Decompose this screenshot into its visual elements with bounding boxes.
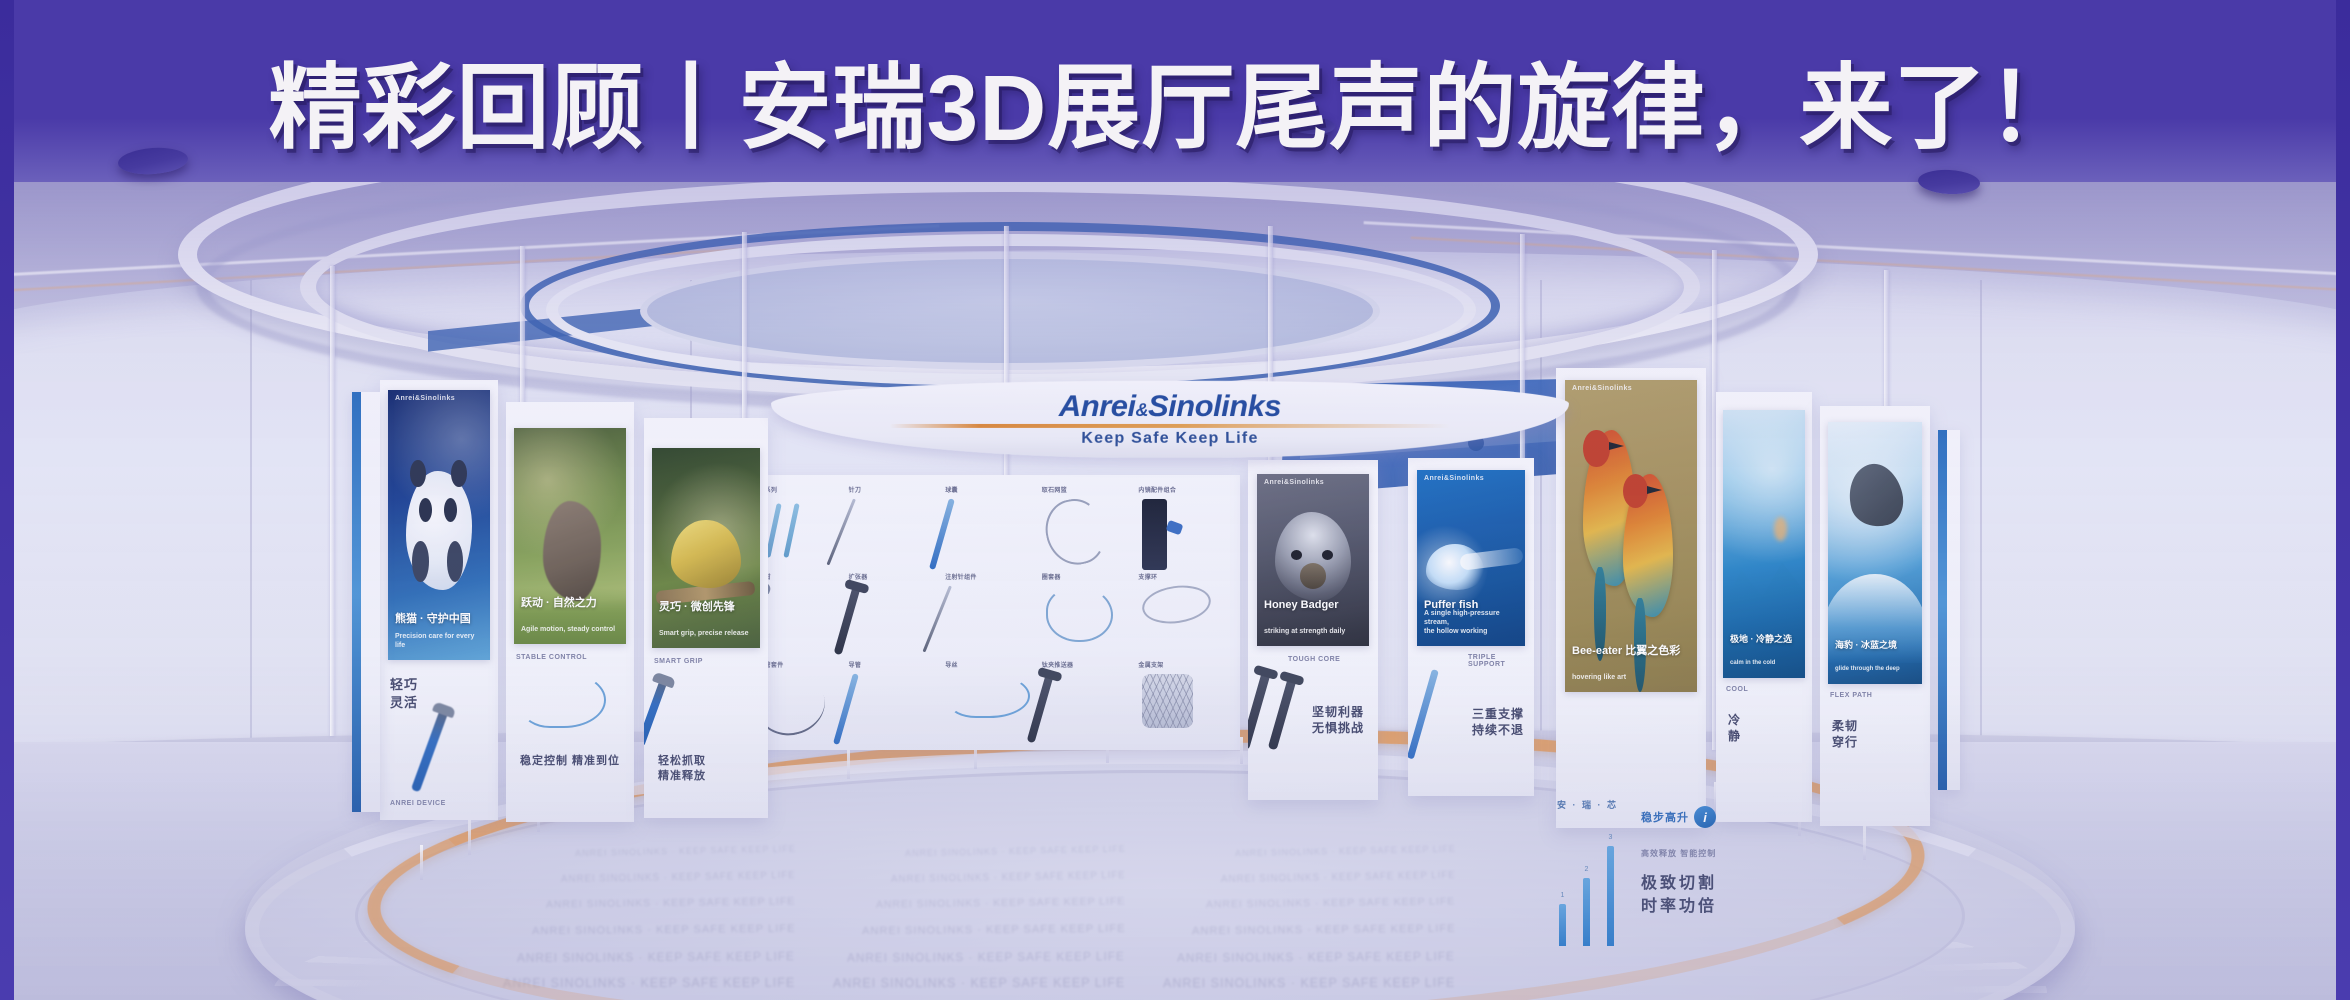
poster-title: 灵巧 · 微创先锋 bbox=[659, 601, 753, 614]
product-cell: 导丝 bbox=[943, 660, 1037, 744]
product-cell: 圈套器 bbox=[1040, 572, 1134, 656]
poster-title: 跃动 · 自然之力 bbox=[521, 597, 619, 610]
poster-art-frog: 灵巧 · 微创先锋 Smart grip, precise release bbox=[652, 448, 760, 648]
poster-title: Bee-eater 比翼之色彩 bbox=[1572, 645, 1690, 658]
poster-subtitle: glide through the deep bbox=[1835, 666, 1915, 674]
product-cell: 注射针组件 bbox=[943, 572, 1037, 656]
product-grid: 导丝系列针刀球囊取石网篮内镜配件组合活检钳扩张器注射针组件圈套器支撑环引流管套件… bbox=[750, 485, 1230, 744]
poster-title: Honey Badger bbox=[1264, 599, 1362, 612]
product-cell: 导管 bbox=[847, 660, 941, 744]
product-cell: 针刀 bbox=[847, 485, 941, 569]
chart-bar-label: 3 bbox=[1609, 834, 1613, 841]
panda-ear-right bbox=[451, 460, 466, 487]
poster-caption-small: TRIPLE SUPPORT bbox=[1468, 654, 1534, 668]
chart-bar: 3 bbox=[1607, 846, 1614, 946]
poster-board-panda: Anrei&Sinolinks 熊猫 · 守护中国 Precision care… bbox=[380, 380, 498, 820]
poster-board-honey-badger: Anrei&Sinolinks Honey Badger striking at… bbox=[1248, 460, 1378, 800]
product-label: 球囊 bbox=[945, 485, 958, 494]
chart-bar-label: 1 bbox=[1561, 892, 1565, 899]
product-device-illustration bbox=[949, 674, 1030, 718]
product-cell: 球囊 bbox=[943, 485, 1037, 569]
wall-seam bbox=[250, 280, 252, 750]
poster-caption-cn: 冷 静 bbox=[1728, 712, 1741, 744]
poster-board-frog: 灵巧 · 微创先锋 Smart grip, precise release SM… bbox=[644, 418, 768, 818]
poster-brandtag: Anrei&Sinolinks bbox=[1572, 385, 1632, 392]
poster-caption-small: TOUGH CORE bbox=[1288, 656, 1340, 663]
kiosk-stripe bbox=[1938, 430, 1947, 790]
poster-subtitle: striking at strength daily bbox=[1264, 627, 1362, 636]
poster-caption-cn: 坚韧利器 无惧挑战 bbox=[1312, 704, 1364, 736]
poster-caption-cn: 轻巧 灵活 bbox=[390, 676, 418, 711]
poster-brandtag: Anrei&Sinolinks bbox=[1264, 479, 1324, 486]
product-cell: 取石网篮 bbox=[1040, 485, 1134, 569]
poster-board-glacier: 海豹 · 冰蓝之境 glide through the deep FLEX PA… bbox=[1820, 406, 1930, 826]
panda-ear-left bbox=[410, 460, 425, 487]
product-label: 针刀 bbox=[849, 485, 862, 494]
left-edge-strip bbox=[0, 0, 14, 1000]
device-illustration bbox=[411, 708, 449, 792]
poster-subtitle: Smart grip, precise release bbox=[659, 629, 753, 638]
kiosk-stripe bbox=[352, 392, 361, 812]
poster-brandtag: Anrei&Sinolinks bbox=[1424, 475, 1484, 482]
poster-caption-cn: 稳定控制 精准到位 bbox=[520, 754, 620, 769]
statistics-chart-panel: 稳步高升 i 安 · 瑞 · 芯 123 高效释放 智能控制 极致切割时率功倍 bbox=[1555, 812, 1755, 962]
poster-art-water: Anrei&Sinolinks Puffer fish A single hig… bbox=[1417, 470, 1525, 646]
chart-bar: 2 bbox=[1583, 878, 1590, 946]
brand-swoosh-underline bbox=[890, 424, 1451, 428]
badger-eye-right bbox=[1322, 550, 1333, 560]
bird-upper-head bbox=[1583, 430, 1609, 467]
product-device-illustration bbox=[1040, 494, 1110, 570]
poster-caption-small: FLEX PATH bbox=[1830, 692, 1872, 699]
product-cell: 钛夹推送器 bbox=[1040, 660, 1134, 744]
product-cell: 内镜配件组合 bbox=[1136, 485, 1230, 569]
product-label: 钛夹推送器 bbox=[1042, 660, 1074, 669]
frog-body bbox=[671, 520, 740, 588]
product-cell: 支撑环 bbox=[1136, 572, 1230, 656]
poster-caption-cn: 三重支撑 持续不退 bbox=[1472, 706, 1524, 738]
poster-art-glacier: 海豹 · 冰蓝之境 glide through the deep bbox=[1828, 422, 1922, 684]
right-edge-strip bbox=[2336, 0, 2350, 1000]
bird-lower-head bbox=[1623, 474, 1648, 508]
chart-subtitle: 高效释放 智能控制 bbox=[1641, 848, 1716, 859]
product-device-illustration bbox=[1142, 499, 1166, 570]
bird-lower-beak bbox=[1647, 486, 1662, 494]
poster-art-bee-eater: Anrei&Sinolinks Bee-eater 比翼之色彩 hovering… bbox=[1565, 380, 1697, 692]
poster-title: 极地 · 冷静之选 bbox=[1730, 634, 1798, 644]
product-label: 导管 bbox=[849, 660, 862, 669]
poster-title: 海豹 · 冰蓝之境 bbox=[1835, 640, 1915, 650]
product-device-illustration bbox=[756, 499, 840, 566]
panda-eye-left bbox=[419, 498, 432, 522]
product-display-panel: 导丝系列针刀球囊取石网篮内镜配件组合活检钳扩张器注射针组件圈套器支撑环引流管套件… bbox=[740, 475, 1240, 750]
product-label: 导丝 bbox=[945, 660, 958, 669]
chart-header: 安 · 瑞 · 芯 bbox=[1557, 798, 1618, 811]
support-post bbox=[330, 266, 335, 736]
product-label: 金属支架 bbox=[1138, 660, 1163, 669]
chart-title: 极致切割时率功倍 bbox=[1641, 872, 1717, 918]
poster-subtitle: A single high-pressure stream, the hollo… bbox=[1424, 609, 1518, 636]
badger-eye-left bbox=[1291, 550, 1302, 560]
showroom-banner-image: Anrei&Sinolinks Keep Safe Keep Life 导丝系列… bbox=[0, 0, 2350, 1000]
poster-board-kangaroo: 跃动 · 自然之力 Agile motion, steady control S… bbox=[506, 402, 634, 822]
brand-wordmark: Anrei&Sinolinks bbox=[1059, 391, 1282, 421]
product-label: 注射针组件 bbox=[945, 572, 977, 581]
poster-subtitle: hovering like art bbox=[1572, 673, 1690, 682]
poster-caption-small: SMART GRIP bbox=[654, 658, 703, 665]
rail-baluster bbox=[468, 820, 471, 855]
poster-subtitle: Precision care for every life bbox=[395, 632, 483, 650]
info-badge: 稳步高升 i bbox=[1641, 806, 1716, 828]
chart-title-line: 时率功倍 bbox=[1641, 895, 1717, 918]
poster-title: 熊猫 · 守护中国 bbox=[395, 613, 483, 626]
rail-baluster bbox=[420, 845, 423, 881]
poster-caption-small: STABLE CONTROL bbox=[516, 654, 587, 661]
poster-board-water: Anrei&Sinolinks Puffer fish A single hig… bbox=[1408, 458, 1534, 796]
chart-bar-label: 2 bbox=[1585, 866, 1589, 873]
poster-board-bee-eater: Anrei&Sinolinks Bee-eater 比翼之色彩 hovering… bbox=[1556, 368, 1706, 828]
poster-art-honey-badger: Anrei&Sinolinks Honey Badger striking at… bbox=[1257, 474, 1369, 646]
badge-label: 稳步高升 bbox=[1641, 809, 1689, 825]
wordmark-left: Anrei bbox=[1059, 389, 1136, 423]
device-illustration bbox=[1408, 669, 1439, 759]
kiosk-left-a bbox=[352, 392, 380, 812]
bird-upper-beak bbox=[1609, 442, 1624, 450]
device-illustration bbox=[644, 679, 668, 748]
rail-baluster bbox=[1240, 737, 1243, 764]
device-illustration bbox=[1248, 671, 1271, 750]
poster-art-polar: 极地 · 冷静之选 calm in the cold bbox=[1723, 410, 1805, 678]
poster-brandtag: Anrei&Sinolinks bbox=[395, 395, 455, 402]
poster-caption-small: ANREI DEVICE bbox=[390, 800, 446, 807]
poster-board-polar: 极地 · 冷静之选 calm in the cold COOL 冷 静 bbox=[1716, 392, 1812, 822]
kiosk-right-b bbox=[1938, 430, 1960, 790]
wordmark-ampersand: & bbox=[1135, 400, 1148, 420]
kangaroo-silhouette bbox=[543, 501, 601, 600]
page-title: 精彩回顾丨安瑞3D展厅尾声的旋律，来了！ bbox=[0, 32, 2350, 167]
info-icon: i bbox=[1694, 806, 1716, 828]
polar-sun bbox=[1774, 517, 1787, 541]
poster-caption-small: COOL bbox=[1726, 686, 1748, 693]
chart-title-line: 极致切割 bbox=[1641, 872, 1717, 895]
rail-baluster bbox=[847, 749, 850, 779]
product-label: 圈套器 bbox=[1042, 572, 1061, 581]
poster-subtitle: Agile motion, steady control bbox=[521, 625, 619, 634]
rail-baluster bbox=[1863, 825, 1866, 860]
product-label: 内镜配件组合 bbox=[1138, 485, 1176, 494]
product-device-illustration bbox=[1140, 582, 1214, 628]
panda-arm-left bbox=[412, 541, 428, 582]
poster-caption-cn: 轻松抓取 精准释放 bbox=[658, 754, 706, 784]
wordmark-right: Sinolinks bbox=[1148, 389, 1281, 423]
poster-subtitle: calm in the cold bbox=[1730, 660, 1798, 668]
wall-seam bbox=[1980, 280, 1982, 750]
poster-art-kangaroo: 跃动 · 自然之力 Agile motion, steady control bbox=[514, 428, 626, 644]
product-device-illustration bbox=[1046, 586, 1113, 642]
device-illustration bbox=[1268, 677, 1297, 751]
brand-tagline: Keep Safe Keep Life bbox=[1081, 430, 1259, 448]
poster-caption-cn: 柔韧 穿行 bbox=[1832, 718, 1858, 750]
product-cell: 金属支架 bbox=[1136, 660, 1230, 744]
product-device-illustration bbox=[1142, 674, 1193, 728]
device-illustration bbox=[522, 672, 606, 728]
seal-silhouette bbox=[1842, 458, 1908, 532]
exhibition-hall-scene: Anrei&Sinolinks Keep Safe Keep Life 导丝系列… bbox=[0, 130, 2350, 1000]
poster-art-panda: Anrei&Sinolinks 熊猫 · 守护中国 Precision care… bbox=[388, 390, 490, 660]
product-label: 取石网篮 bbox=[1042, 485, 1067, 494]
chart-bar: 1 bbox=[1559, 904, 1566, 946]
chart-bars: 123 bbox=[1559, 834, 1614, 946]
product-label: 支撑环 bbox=[1138, 572, 1157, 581]
